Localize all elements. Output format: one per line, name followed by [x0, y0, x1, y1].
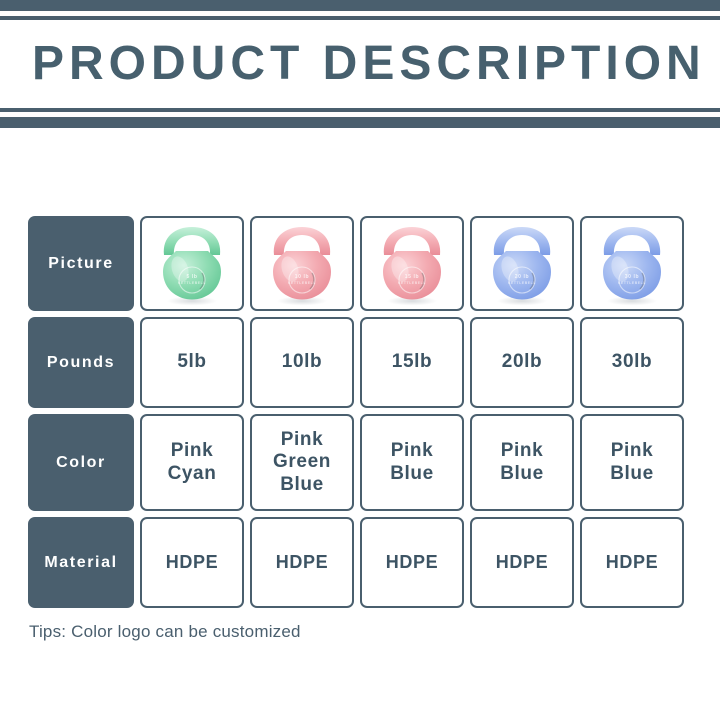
color-cell-3: Pink Blue	[360, 414, 464, 511]
kettlebell-icon: 20 lb KETTLEBELL	[472, 218, 572, 309]
kettlebell-svg: 5 lb KETTLEBELL	[150, 221, 234, 307]
svg-text:5 lb: 5 lb	[186, 274, 197, 280]
kettlebell-svg: 15 lb KETTLEBELL	[370, 221, 454, 307]
header-top-thick-rule	[0, 0, 720, 11]
pounds-cell-1: 5lb	[140, 317, 244, 408]
kettlebell-svg: 30 lb KETTLEBELL	[590, 221, 674, 307]
row-header-pounds: Pounds	[28, 317, 134, 408]
color-cell-1: Pink Cyan	[140, 414, 244, 511]
material-cell-3: HDPE	[360, 517, 464, 608]
kettlebell-icon: 15 lb KETTLEBELL	[362, 218, 462, 309]
svg-text:10 lb: 10 lb	[295, 274, 309, 280]
material-cell-2: HDPE	[250, 517, 354, 608]
kettlebell-icon: 30 lb KETTLEBELL	[582, 218, 682, 309]
pounds-cell-5: 30lb	[580, 317, 684, 408]
color-cell-5: Pink Blue	[580, 414, 684, 511]
material-cell-1: HDPE	[140, 517, 244, 608]
picture-cell-5: 30 lb KETTLEBELL	[580, 216, 684, 311]
svg-text:KETTLEBELL: KETTLEBELL	[178, 281, 206, 285]
table-row-pounds: Pounds 5lb 10lb 15lb 20lb 30lb	[28, 317, 684, 408]
specification-table: Picture 5 lb KETTLEBELL	[28, 216, 684, 608]
svg-text:KETTLEBELL: KETTLEBELL	[618, 281, 646, 285]
table-row-picture: Picture 5 lb KETTLEBELL	[28, 216, 684, 311]
color-cell-2: Pink Green Blue	[250, 414, 354, 511]
svg-text:KETTLEBELL: KETTLEBELL	[508, 281, 536, 285]
table-row-color: Color Pink Cyan Pink Green Blue Pink Blu…	[28, 414, 684, 511]
svg-text:20 lb: 20 lb	[515, 274, 529, 280]
header-banner: PRODUCT DESCRIPTION	[0, 0, 720, 128]
material-cell-4: HDPE	[470, 517, 574, 608]
picture-cell-2: 10 lb KETTLEBELL	[250, 216, 354, 311]
picture-cell-4: 20 lb KETTLEBELL	[470, 216, 574, 311]
svg-text:30 lb: 30 lb	[625, 274, 639, 280]
table-row-material: Material HDPE HDPE HDPE HDPE HDPE	[28, 517, 684, 608]
pounds-cell-4: 20lb	[470, 317, 574, 408]
kettlebell-icon: 10 lb KETTLEBELL	[252, 218, 352, 309]
row-header-material: Material	[28, 517, 134, 608]
row-header-picture: Picture	[28, 216, 134, 311]
kettlebell-svg: 10 lb KETTLEBELL	[260, 221, 344, 307]
picture-cell-3: 15 lb KETTLEBELL	[360, 216, 464, 311]
tips-note: Tips: Color logo can be customized	[29, 622, 301, 642]
material-cell-5: HDPE	[580, 517, 684, 608]
pounds-cell-2: 10lb	[250, 317, 354, 408]
pounds-cell-3: 15lb	[360, 317, 464, 408]
row-header-color: Color	[28, 414, 134, 511]
picture-cell-1: 5 lb KETTLEBELL	[140, 216, 244, 311]
kettlebell-icon: 5 lb KETTLEBELL	[142, 218, 242, 309]
svg-text:KETTLEBELL: KETTLEBELL	[398, 281, 426, 285]
header-bottom-thick-rule	[0, 117, 720, 128]
title-area: PRODUCT DESCRIPTION	[0, 20, 720, 108]
svg-text:KETTLEBELL: KETTLEBELL	[288, 281, 316, 285]
svg-text:15 lb: 15 lb	[405, 274, 419, 280]
kettlebell-svg: 20 lb KETTLEBELL	[480, 221, 564, 307]
page-title: PRODUCT DESCRIPTION	[32, 40, 706, 88]
color-cell-4: Pink Blue	[470, 414, 574, 511]
